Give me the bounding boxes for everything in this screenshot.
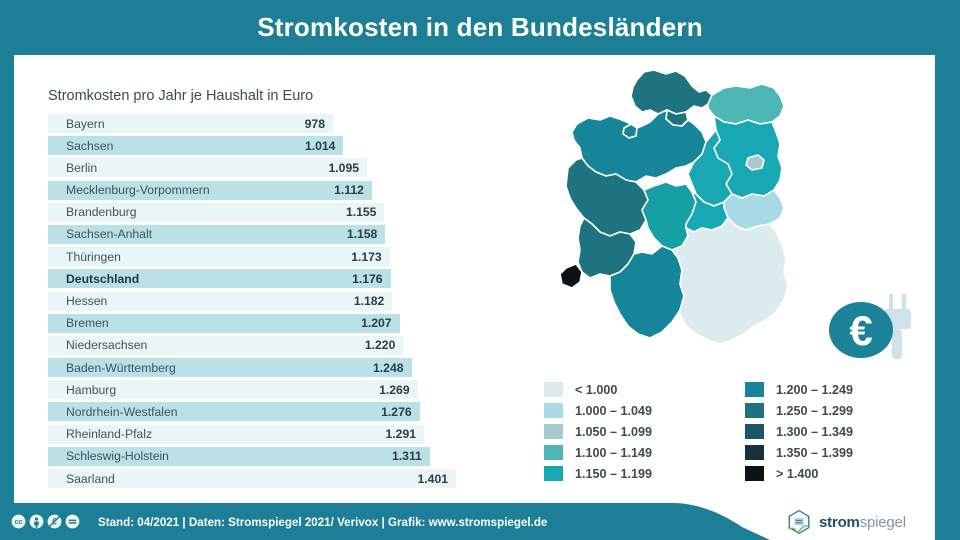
bar-label: Rheinland-Pfalz: [66, 427, 152, 441]
bar: Rheinland-Pfalz1.291: [48, 425, 424, 444]
bar: Sachsen1.014: [48, 136, 343, 155]
legend-label: > 1.400: [776, 467, 818, 481]
legend-item: 1.100 – 1.149: [544, 443, 733, 462]
chart-subtitle: Stromkosten pro Jahr je Haushalt in Euro: [48, 88, 313, 104]
bar-label: Deutschland: [66, 272, 139, 286]
map-region-berlin: [746, 155, 764, 170]
table-row: Sachsen-Anhalt1.158: [48, 225, 478, 244]
legend-item: 1.050 – 1.099: [544, 422, 733, 441]
table-row: Nordrhein-Westfalen1.276: [48, 402, 478, 421]
cc-nd-icon: [65, 514, 80, 529]
bar-value: 1.220: [365, 338, 396, 352]
cc-icon: cc: [11, 514, 26, 529]
logo-strom: strom: [819, 514, 860, 531]
legend-item: 1.150 – 1.199: [544, 464, 733, 483]
legend-label: 1.250 – 1.299: [776, 404, 853, 418]
table-row: Mecklenburg-Vorpommern1.112: [48, 181, 478, 200]
table-row: Hessen1.182: [48, 292, 478, 311]
header-bar: Stromkosten in den Bundesländern: [0, 0, 960, 55]
bar: Saarland1.401: [48, 469, 456, 488]
bar: Brandenburg1.155: [48, 203, 384, 222]
table-row: Thüringen1.173: [48, 247, 478, 266]
table-row: Bremen1.207: [48, 314, 478, 333]
legend-swatch: [544, 403, 563, 418]
cc-license-icons: cc €: [11, 514, 80, 529]
legend-swatch: [544, 424, 563, 439]
legend-item: 1.200 – 1.249: [745, 380, 934, 399]
legend-item: 1.350 – 1.399: [745, 443, 934, 462]
bar: Schleswig-Holstein1.311: [48, 447, 430, 466]
bar-value: 1.014: [305, 139, 336, 153]
legend-label: 1.200 – 1.249: [776, 383, 853, 397]
table-row: Rheinland-Pfalz1.291: [48, 425, 478, 444]
legend-swatch: [745, 382, 764, 397]
bar-value: 1.311: [392, 449, 422, 463]
legend-swatch: [745, 403, 764, 418]
bar: Sachsen-Anhalt1.158: [48, 225, 385, 244]
legend-label: 1.300 – 1.349: [776, 425, 853, 439]
table-row: Bayern978: [48, 114, 478, 133]
bar-label: Hamburg: [66, 383, 116, 397]
legend-label: < 1.000: [575, 383, 617, 397]
germany-map: [536, 62, 866, 382]
bar: Deutschland1.176: [48, 269, 391, 288]
table-row: Niedersachsen1.220: [48, 336, 478, 355]
stromspiegel-hex-icon: [786, 509, 812, 535]
bar: Berlin1.095: [48, 158, 367, 177]
bar-label: Thüringen: [66, 250, 121, 264]
bar-value: 1.112: [334, 183, 364, 197]
bar: Thüringen1.173: [48, 247, 390, 266]
stromspiegel-wordmark: stromspiegel: [819, 514, 906, 531]
table-row: Deutschland1.176: [48, 269, 478, 288]
bar-value: 1.182: [354, 294, 385, 308]
bar: Hamburg1.269: [48, 380, 418, 399]
legend-item: 1.300 – 1.349: [745, 422, 934, 441]
legend-swatch: [544, 466, 563, 481]
map-region-saarland: [560, 264, 582, 288]
bar-value: 1.401: [418, 472, 449, 486]
bar-value: 1.095: [329, 161, 360, 175]
bar-chart: Bayern978Sachsen1.014Berlin1.095Mecklenb…: [48, 114, 478, 491]
logo-spiegel: spiegel: [860, 514, 906, 531]
bar-value: 1.158: [347, 227, 378, 241]
euro-plug-icon: €: [826, 292, 926, 372]
bar-label: Bremen: [66, 316, 109, 330]
bar-label: Sachsen-Anhalt: [66, 227, 152, 241]
table-row: Baden-Württemberg1.248: [48, 358, 478, 377]
legend-label: 1.150 – 1.199: [575, 467, 652, 481]
legend-swatch: [745, 424, 764, 439]
table-row: Sachsen1.014: [48, 136, 478, 155]
table-row: Hamburg1.269: [48, 380, 478, 399]
map-region-schleswig-holstein: [631, 70, 712, 114]
legend-label: 1.050 – 1.099: [575, 425, 652, 439]
legend-swatch: [745, 466, 764, 481]
euro-symbol: €: [849, 307, 872, 354]
bar: Hessen1.182: [48, 292, 392, 311]
bar-value: 1.248: [373, 361, 404, 375]
bar: Niedersachsen1.220: [48, 336, 403, 355]
bar-label: Sachsen: [66, 139, 113, 153]
bar-value: 1.269: [379, 383, 410, 397]
bar: Baden-Württemberg1.248: [48, 358, 412, 377]
bar-label: Saarland: [66, 472, 115, 486]
legend-item: > 1.400: [745, 464, 934, 483]
map-legend: < 1.0001.200 – 1.2491.000 – 1.0491.250 –…: [544, 380, 934, 483]
panel-right-edge: [935, 55, 960, 540]
legend-swatch: [745, 445, 764, 460]
table-row: Schleswig-Holstein1.311: [48, 447, 478, 466]
legend-label: 1.000 – 1.049: [575, 404, 652, 418]
legend-item: < 1.000: [544, 380, 733, 399]
bar-value: 1.276: [381, 405, 412, 419]
bar-label: Berlin: [66, 161, 97, 175]
svg-text:cc: cc: [15, 519, 23, 526]
legend-item: 1.000 – 1.049: [544, 401, 733, 420]
bar-label: Mecklenburg-Vorpommern: [66, 183, 210, 197]
cc-nc-icon: €: [47, 514, 62, 529]
bar: Bremen1.207: [48, 314, 400, 333]
bar-label: Bayern: [66, 117, 105, 131]
table-row: Berlin1.095: [48, 158, 478, 177]
legend-swatch: [544, 445, 563, 460]
bar-value: 1.173: [351, 250, 382, 264]
page-title: Stromkosten in den Bundesländern: [257, 12, 703, 43]
bar: Mecklenburg-Vorpommern1.112: [48, 181, 372, 200]
bar-label: Niedersachsen: [66, 338, 147, 352]
map-region-mecklenburg-vorpommern: [708, 84, 784, 124]
bar-value: 978: [305, 117, 325, 131]
bar-value: 1.291: [386, 427, 417, 441]
legend-label: 1.350 – 1.399: [776, 446, 853, 460]
euro-coin-icon: €: [829, 302, 893, 358]
bar-label: Hessen: [66, 294, 107, 308]
bar: Nordrhein-Westfalen1.276: [48, 402, 420, 421]
cc-by-icon: [29, 514, 44, 529]
legend-label: 1.100 – 1.149: [575, 446, 652, 460]
infographic-frame: Stromkosten in den Bundesländern Stromko…: [0, 0, 960, 540]
table-row: Brandenburg1.155: [48, 203, 478, 222]
footer-credits: Stand: 04/2021 | Daten: Stromspiegel 202…: [98, 514, 547, 530]
bar-label: Schleswig-Holstein: [66, 449, 169, 463]
bar-value: 1.207: [361, 316, 392, 330]
bar-label: Brandenburg: [66, 205, 136, 219]
bar-value: 1.155: [346, 205, 377, 219]
legend-swatch: [544, 382, 563, 397]
legend-item: 1.250 – 1.299: [745, 401, 934, 420]
bar-label: Baden-Württemberg: [66, 361, 176, 375]
bar: Bayern978: [48, 114, 333, 133]
table-row: Saarland1.401: [48, 469, 478, 488]
stromspiegel-logo: stromspiegel: [786, 509, 906, 535]
map-region-bayern: [672, 218, 788, 344]
bar-value: 1.176: [352, 272, 383, 286]
bar-label: Nordrhein-Westfalen: [66, 405, 178, 419]
